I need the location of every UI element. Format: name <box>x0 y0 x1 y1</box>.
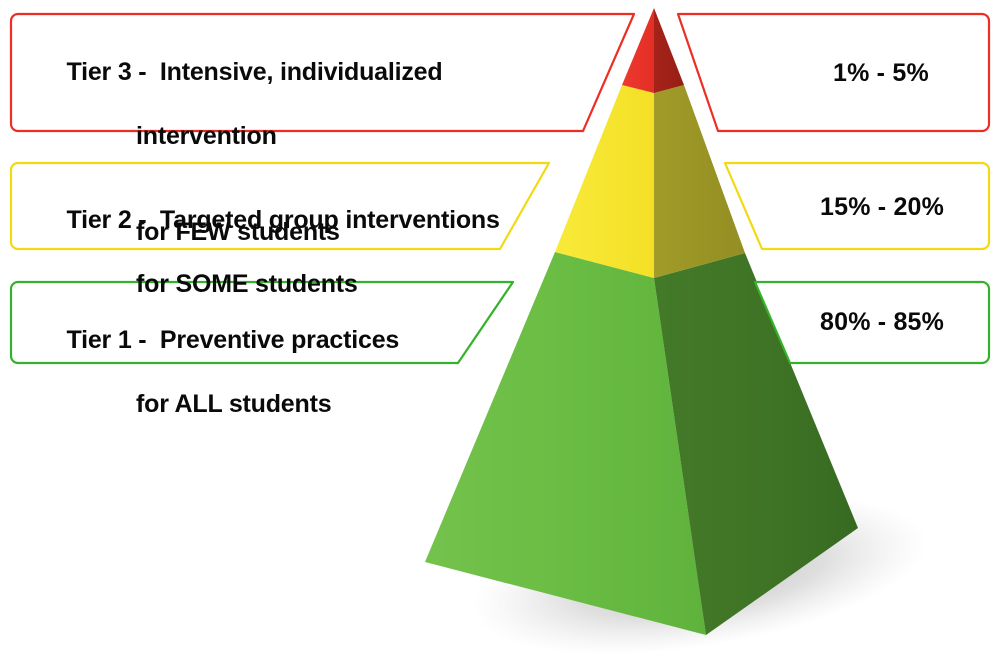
text-layer: Tier 3 - Intensive, individualized inter… <box>0 0 1000 672</box>
tier2-line-1: Tier 2 - Targeted group interventions <box>66 206 499 234</box>
tier1-line-2: for ALL students <box>26 388 399 420</box>
tier1-percent-label: 80% - 85% <box>820 308 944 337</box>
tier3-percent-label: 1% - 5% <box>833 59 929 88</box>
tier1-description-text: Tier 1 - Preventive practices for ALL st… <box>26 292 399 484</box>
tier3-line-2: intervention <box>26 120 442 152</box>
tier3-line-1: Tier 3 - Intensive, individualized <box>66 58 442 86</box>
tier1-line-1: Tier 1 - Preventive practices <box>66 326 399 354</box>
tier2-percent-label: 15% - 20% <box>820 193 944 222</box>
pyramid-diagram: Tier 3 - Intensive, individualized inter… <box>0 0 1000 672</box>
